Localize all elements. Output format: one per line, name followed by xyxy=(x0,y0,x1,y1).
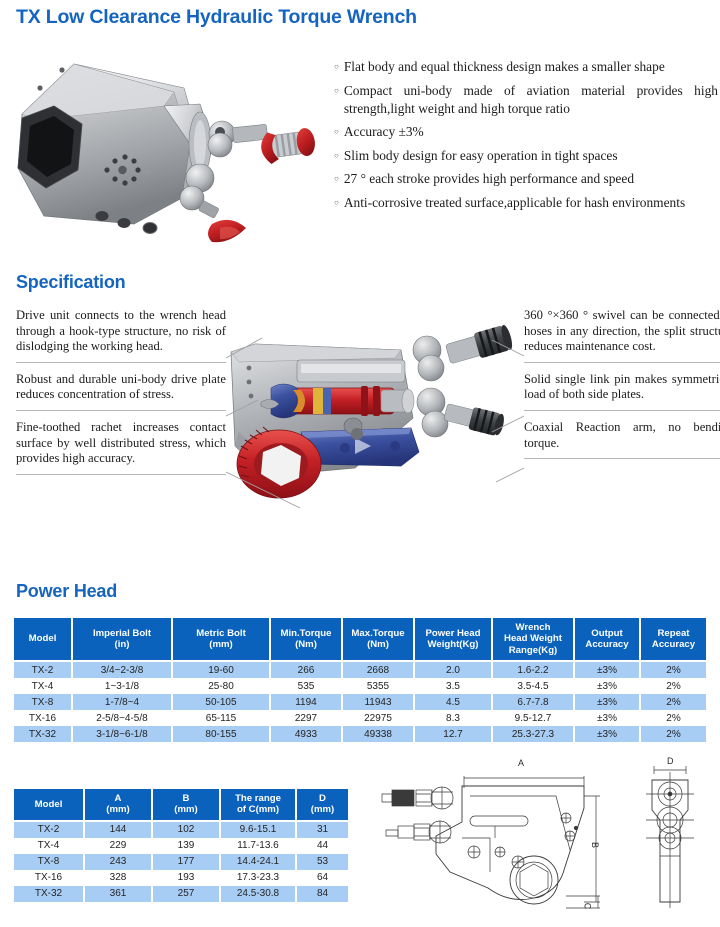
bullet-circle-icon: ○ xyxy=(334,194,339,212)
divider xyxy=(524,458,720,459)
spec-note: Fine-toothed rachet increases contact su… xyxy=(16,420,226,475)
feature-list: ○ Flat body and equal thickness design m… xyxy=(334,58,718,217)
divider xyxy=(524,362,720,363)
feature-text: Anti-corrosive treated surface,applicabl… xyxy=(344,194,685,212)
dimensions-cell: 243 xyxy=(84,854,152,870)
specification-block: Drive unit connects to the wrench head t… xyxy=(0,300,720,550)
power-head-cell: 4933 xyxy=(270,726,342,742)
power-head-cell: 65-115 xyxy=(172,710,270,726)
table-row: TX-824317714.4-24.153 xyxy=(14,854,348,870)
dimensions-cell: 64 xyxy=(296,870,348,886)
dim-label-a: A xyxy=(518,758,524,768)
dimensions-col-header: D(mm) xyxy=(296,789,348,821)
dim-label-d: D xyxy=(667,756,674,766)
power-head-cell: ±3% xyxy=(574,678,640,694)
divider xyxy=(16,474,226,475)
feature-item: ○ Anti-corrosive treated surface,applica… xyxy=(334,194,718,212)
bullet-circle-icon: ○ xyxy=(334,58,339,76)
dimensions-cell: 9.6-15.1 xyxy=(220,821,296,838)
power-head-cell: 25.3-27.3 xyxy=(492,726,574,742)
power-head-col-header: Max.Torque(Nm) xyxy=(342,618,414,661)
spec-note: Robust and durable uni-body drive plate … xyxy=(16,372,226,411)
feature-text: Accuracy ±3% xyxy=(344,123,424,141)
power-head-cell: TX-8 xyxy=(14,694,72,710)
power-head-col-header: Model xyxy=(14,618,72,661)
power-head-col-header: Imperial Bolt(in) xyxy=(72,618,172,661)
product-cutaway-illustration xyxy=(205,306,525,516)
power-head-cell: 2-5/8~4-5/8 xyxy=(72,710,172,726)
feature-text: 27 ° each stroke provides high performan… xyxy=(344,170,634,188)
power-head-col-header: RepeatAccuracy xyxy=(640,618,706,661)
power-head-cell: 2% xyxy=(640,678,706,694)
spec-note-text: Drive unit connects to the wrench head t… xyxy=(16,308,226,355)
dimensions-cell: TX-8 xyxy=(14,854,84,870)
specification-heading: Specification xyxy=(16,272,125,293)
spec-notes-right: 360 °×360 ° swivel can be connected to h… xyxy=(524,308,720,468)
table-header-row: ModelImperial Bolt(in)Metric Bolt(mm)Min… xyxy=(14,618,706,661)
power-head-cell: 4.5 xyxy=(414,694,492,710)
svg-text:CE: CE xyxy=(142,170,150,176)
dimensions-col-header: B(mm) xyxy=(152,789,220,821)
power-head-cell: ±3% xyxy=(574,694,640,710)
power-head-cell: TX-4 xyxy=(14,678,72,694)
table-row: TX-23/4~2-3/819-6026626682.01.6-2.2±3%2% xyxy=(14,661,706,678)
power-head-cell: TX-2 xyxy=(14,661,72,678)
dim-label-b: B xyxy=(590,842,600,848)
dimensions-cell: 361 xyxy=(84,886,152,902)
spec-note: Coaxial Reaction arm, no bending torque. xyxy=(524,420,720,459)
power-head-cell: 2% xyxy=(640,694,706,710)
table-row: TX-41~3-1/825-8053553553.53.5-4.5±3%2% xyxy=(14,678,706,694)
dimensions-cell: 17.3-23.3 xyxy=(220,870,296,886)
dimensions-cell: 14.4-24.1 xyxy=(220,854,296,870)
spec-note: Solid single link pin makes symmetrical … xyxy=(524,372,720,411)
bullet-circle-icon: ○ xyxy=(334,147,339,165)
power-head-cell: ±3% xyxy=(574,726,640,742)
dimensions-cell: 177 xyxy=(152,854,220,870)
feature-text: Flat body and equal thickness design mak… xyxy=(344,58,665,76)
power-head-cell: 11943 xyxy=(342,694,414,710)
product-photo-hero: CE xyxy=(14,48,344,253)
power-head-cell: 8.3 xyxy=(414,710,492,726)
dimensions-cell: TX-2 xyxy=(14,821,84,838)
table-row: TX-3236125724.5-30.884 xyxy=(14,886,348,902)
power-head-cell: 6.7-7.8 xyxy=(492,694,574,710)
dimensions-cell: 102 xyxy=(152,821,220,838)
power-head-cell: 25-80 xyxy=(172,678,270,694)
power-head-cell: 1~3-1/8 xyxy=(72,678,172,694)
bullet-circle-icon: ○ xyxy=(334,170,339,188)
page-title: TX Low Clearance Hydraulic Torque Wrench xyxy=(16,6,417,29)
dimensions-cell: 44 xyxy=(296,838,348,854)
dimensions-cell: 11.7-13.6 xyxy=(220,838,296,854)
spec-note-text: 360 °×360 ° swivel can be connected to h… xyxy=(524,308,720,355)
feature-item: ○ Compact uni-body made of aviation mate… xyxy=(334,82,718,118)
power-head-cell: 3.5 xyxy=(414,678,492,694)
dimensions-col-header: Model xyxy=(14,789,84,821)
dimensions-cell: 53 xyxy=(296,854,348,870)
spec-note-text: Fine-toothed rachet increases contact su… xyxy=(16,420,226,467)
spec-note: 360 °×360 ° swivel can be connected to h… xyxy=(524,308,720,363)
power-head-cell: 80-155 xyxy=(172,726,270,742)
dimensions-table: ModelA(mm)B(mm)The rangeof C(mm)D(mm) TX… xyxy=(14,789,348,902)
dimensions-cell: 257 xyxy=(152,886,220,902)
feature-text: Slim body design for easy operation in t… xyxy=(344,147,618,165)
dimensions-cell: 229 xyxy=(84,838,152,854)
dim-label-c: C xyxy=(582,903,592,910)
feature-item: ○ Flat body and equal thickness design m… xyxy=(334,58,718,76)
table-row: TX-162-5/8~4-5/865-1152297229758.39.5-12… xyxy=(14,710,706,726)
power-head-col-header: WrenchHead WeightRange(Kg) xyxy=(492,618,574,661)
spec-notes-left: Drive unit connects to the wrench head t… xyxy=(16,308,226,484)
dimensions-cell: 193 xyxy=(152,870,220,886)
power-head-cell: 535 xyxy=(270,678,342,694)
dimensions-cell: 84 xyxy=(296,886,348,902)
power-head-table: ModelImperial Bolt(in)Metric Bolt(mm)Min… xyxy=(14,618,706,742)
feature-item: ○ 27 ° each stroke provides high perform… xyxy=(334,170,718,188)
power-head-cell: 19-60 xyxy=(172,661,270,678)
power-head-cell: 50-105 xyxy=(172,694,270,710)
dimensions-cell: 144 xyxy=(84,821,152,838)
product-datasheet-page: TX Low Clearance Hydraulic Torque Wrench xyxy=(0,0,720,926)
divider xyxy=(16,410,226,411)
power-head-cell: TX-16 xyxy=(14,710,72,726)
power-head-cell: 1194 xyxy=(270,694,342,710)
power-head-cell: ±3% xyxy=(574,661,640,678)
power-head-cell: 2.0 xyxy=(414,661,492,678)
table-row: TX-323-1/8~6-1/880-15549334933812.725.3-… xyxy=(14,726,706,742)
dimensions-col-header: The rangeof C(mm) xyxy=(220,789,296,821)
dimensions-cell: 24.5-30.8 xyxy=(220,886,296,902)
table-header-row: ModelA(mm)B(mm)The rangeof C(mm)D(mm) xyxy=(14,789,348,821)
dimensions-cell: 328 xyxy=(84,870,152,886)
feature-item: ○ Accuracy ±3% xyxy=(334,123,718,141)
power-head-cell: 49338 xyxy=(342,726,414,742)
power-head-cell: 22975 xyxy=(342,710,414,726)
power-head-heading: Power Head xyxy=(16,581,117,602)
spec-note-text: Coaxial Reaction arm, no bending torque. xyxy=(524,420,720,451)
power-head-cell: 1-7/8~4 xyxy=(72,694,172,710)
power-head-cell: 2% xyxy=(640,710,706,726)
power-head-col-header: Min.Torque(Nm) xyxy=(270,618,342,661)
bullet-circle-icon: ○ xyxy=(334,123,339,141)
bullet-circle-icon: ○ xyxy=(334,82,339,100)
spec-note-text: Robust and durable uni-body drive plate … xyxy=(16,372,226,403)
divider xyxy=(524,410,720,411)
table-row: TX-81-7/8~450-1051194119434.56.7-7.8±3%2… xyxy=(14,694,706,710)
dimensions-cell: 139 xyxy=(152,838,220,854)
table-row: TX-422913911.7-13.644 xyxy=(14,838,348,854)
power-head-cell: 9.5-12.7 xyxy=(492,710,574,726)
feature-text: Compact uni-body made of aviation materi… xyxy=(344,82,718,118)
technical-drawing: A B C D xyxy=(370,762,710,922)
power-head-cell: 3/4~2-3/8 xyxy=(72,661,172,678)
power-head-cell: 3-1/8~6-1/8 xyxy=(72,726,172,742)
dimensions-col-header: A(mm) xyxy=(84,789,152,821)
power-head-cell: 5355 xyxy=(342,678,414,694)
power-head-cell: 2297 xyxy=(270,710,342,726)
power-head-cell: 2668 xyxy=(342,661,414,678)
power-head-col-header: Metric Bolt(mm) xyxy=(172,618,270,661)
power-head-cell: 3.5-4.5 xyxy=(492,678,574,694)
power-head-col-header: Power HeadWeight(Kg) xyxy=(414,618,492,661)
power-head-cell: 266 xyxy=(270,661,342,678)
power-head-cell: 2% xyxy=(640,726,706,742)
table-row: TX-21441029.6-15.131 xyxy=(14,821,348,838)
power-head-col-header: OutputAccuracy xyxy=(574,618,640,661)
divider xyxy=(16,362,226,363)
power-head-cell: 1.6-2.2 xyxy=(492,661,574,678)
power-head-cell: 12.7 xyxy=(414,726,492,742)
power-head-cell: TX-32 xyxy=(14,726,72,742)
power-head-cell: 2% xyxy=(640,661,706,678)
feature-item: ○ Slim body design for easy operation in… xyxy=(334,147,718,165)
spec-note: Drive unit connects to the wrench head t… xyxy=(16,308,226,363)
table-row: TX-1632819317.3-23.364 xyxy=(14,870,348,886)
spec-note-text: Solid single link pin makes symmetrical … xyxy=(524,372,720,403)
dimensions-cell: TX-32 xyxy=(14,886,84,902)
dimensions-cell: 31 xyxy=(296,821,348,838)
power-head-cell: ±3% xyxy=(574,710,640,726)
dimensions-cell: TX-4 xyxy=(14,838,84,854)
dimensions-cell: TX-16 xyxy=(14,870,84,886)
